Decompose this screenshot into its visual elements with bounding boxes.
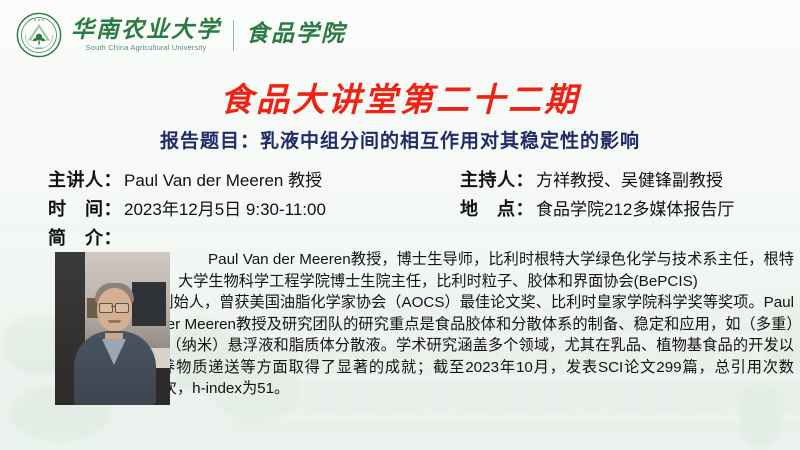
location-field: 地 点： 食品学院212多媒体报告厅 bbox=[460, 195, 734, 221]
speaker-portrait bbox=[55, 252, 170, 405]
logo-divider bbox=[233, 20, 234, 51]
info-row: 时 间： 2023年12月5日 9:30-11:00 地 点： 食品学院212多… bbox=[48, 195, 788, 224]
location-label: 地 点： bbox=[460, 195, 534, 221]
time-label: 时 间： bbox=[48, 195, 122, 221]
university-seal-icon: ★ ★ ★ 1909 bbox=[16, 12, 62, 58]
page-title: 食品大讲堂第二十二期 bbox=[0, 73, 800, 121]
lecture-info-grid: 主讲人： Paul Van der Meeren 教授 主持人： 方祥教授、吴健… bbox=[48, 166, 788, 224]
time-field: 时 间： 2023年12月5日 9:30-11:00 bbox=[48, 195, 460, 221]
intro-text-tail: 联合创始人，曾获美国油脂化学家协会（AOCS）最佳论文奖、比利时皇家学院科学奖等… bbox=[128, 292, 794, 400]
poster-header: ★ ★ ★ 1909 华南农业大学 South China Agricultur… bbox=[16, 12, 346, 58]
intro-label: 简 介： bbox=[48, 224, 122, 250]
speaker-label: 主讲人： bbox=[48, 166, 122, 192]
intro-paragraph-head: Paul Van der Meeren教授，博士生导师，比利时根特大学绿色化学与… bbox=[178, 249, 794, 292]
svg-text:1909: 1909 bbox=[36, 46, 43, 50]
location-value: 食品学院212多媒体报告厅 bbox=[536, 195, 734, 220]
intro-paragraph-tail: 联合创始人，曾获美国油脂化学家协会（AOCS）最佳论文奖、比利时皇家学院科学奖等… bbox=[128, 292, 794, 400]
speaker-field: 主讲人： Paul Van der Meeren 教授 bbox=[48, 166, 460, 192]
host-label: 主持人： bbox=[460, 166, 534, 192]
speaker-value: Paul Van der Meeren 教授 bbox=[124, 166, 322, 191]
info-row: 主讲人： Paul Van der Meeren 教授 主持人： 方祥教授、吴健… bbox=[48, 166, 788, 195]
svg-text:★ ★ ★: ★ ★ ★ bbox=[34, 18, 45, 22]
university-name-cn: 华南农业大学 bbox=[71, 18, 221, 41]
time-value: 2023年12月5日 9:30-11:00 bbox=[124, 195, 326, 220]
seminar-poster: ★ ★ ★ 1909 华南农业大学 South China Agricultur… bbox=[0, 0, 800, 450]
host-field: 主持人： 方祥教授、吴健锋副教授 bbox=[460, 166, 723, 192]
lecture-subtitle: 报告题目：乳液中组分间的相互作用对其稳定性的影响 bbox=[0, 126, 800, 153]
university-name-en: South China Agricultural University bbox=[86, 44, 207, 52]
college-name-cn: 食品学院 bbox=[246, 14, 346, 56]
host-value: 方祥教授、吴健锋副教授 bbox=[536, 166, 723, 191]
intro-text-head: Paul Van der Meeren教授，博士生导师，比利时根特大学绿色化学与… bbox=[178, 249, 794, 292]
